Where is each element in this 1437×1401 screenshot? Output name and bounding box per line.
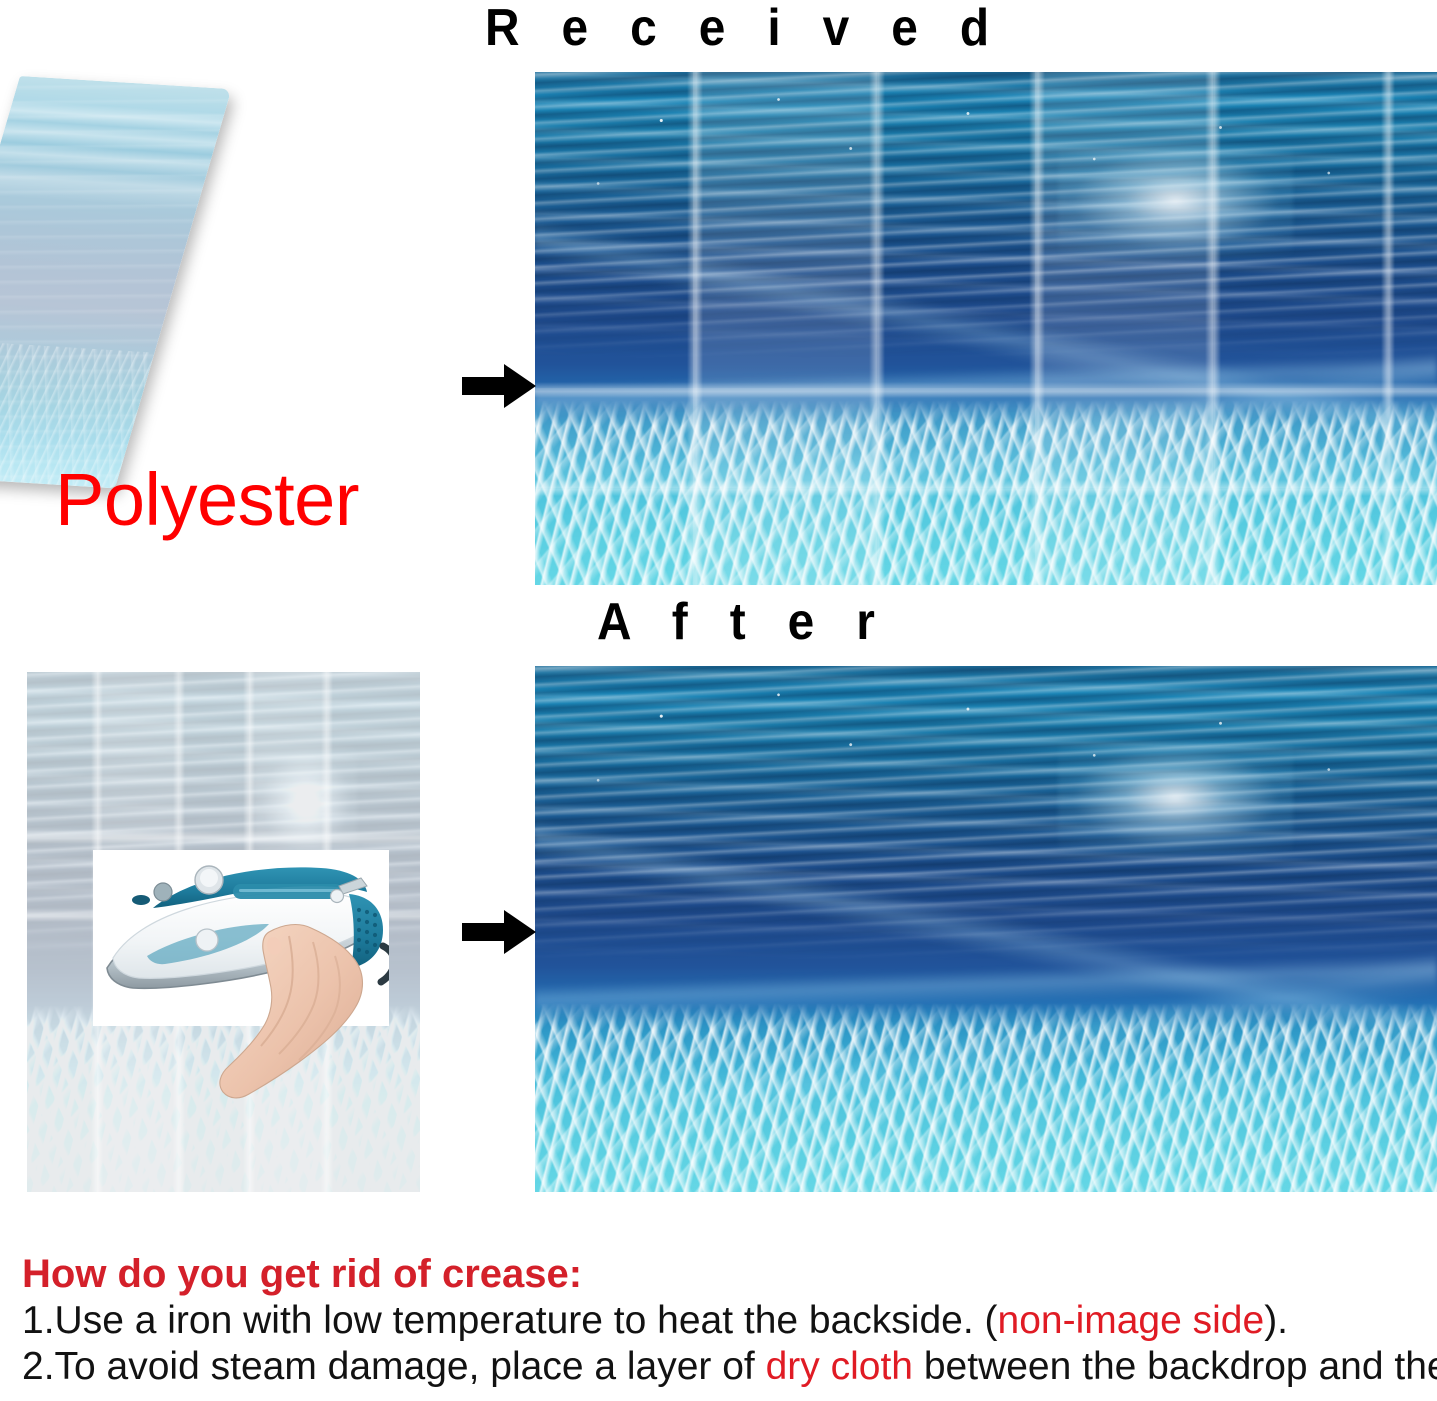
instruction-1-part-3: ).	[1264, 1299, 1288, 1342]
instructions-heading: How do you get rid of crease:	[22, 1252, 1422, 1297]
instruction-2-number: 2.	[22, 1345, 55, 1388]
received-backdrop-image	[535, 72, 1437, 585]
bubbles	[535, 677, 1437, 856]
instruction-item-1: 1.Use a iron with low temperature to hea…	[22, 1299, 1422, 1343]
care-instructions: How do you get rid of crease: 1.Use a ir…	[22, 1252, 1422, 1390]
instruction-2-part-2-highlight: dry cloth	[766, 1345, 913, 1388]
instruction-1-part-2-highlight: non-image side	[998, 1299, 1265, 1342]
folded-fabric-swatch	[0, 76, 232, 488]
polyester-fabric-roll-image	[8, 68, 460, 498]
steam-iron-photo	[93, 850, 389, 1026]
instruction-2-part-1: To avoid steam damage, place a layer of	[55, 1345, 766, 1388]
instruction-1-part-1: Use a iron with low temperature to heat …	[55, 1299, 998, 1342]
seafloor-caustics	[535, 1003, 1437, 1192]
right-arrow-icon	[462, 362, 536, 410]
right-arrow-icon	[462, 908, 536, 956]
received-section-title: R e c e i v e d	[485, 2, 1003, 54]
instruction-item-2: 2.To avoid steam damage, place a layer o…	[22, 1345, 1422, 1389]
after-backdrop-image	[535, 666, 1437, 1192]
polyester-material-label: Polyester	[55, 463, 359, 537]
after-section-title: A f t e r	[597, 596, 889, 648]
bubbles	[535, 82, 1437, 256]
instruction-2-part-3: between the backdrop and the iron.	[913, 1345, 1437, 1388]
seafloor-caustics	[535, 400, 1437, 585]
instruction-1-number: 1.	[22, 1299, 55, 1342]
